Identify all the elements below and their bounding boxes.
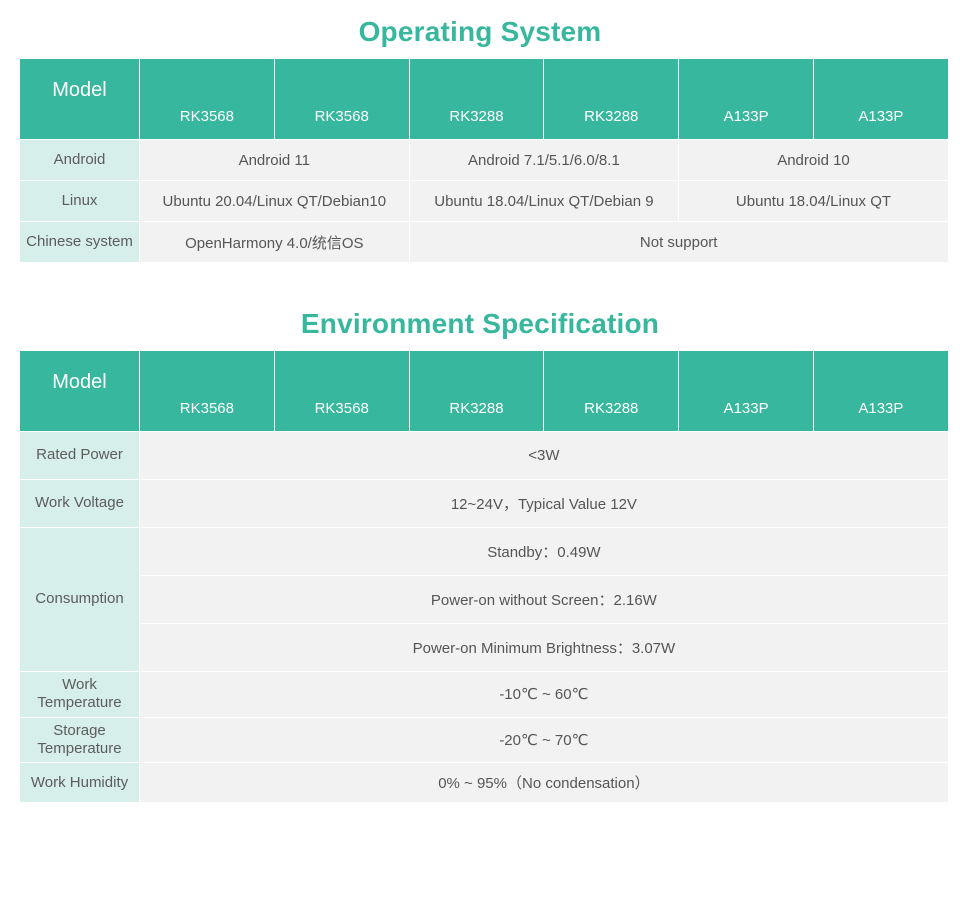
table-row: Chinese system OpenHarmony 4.0/统信OS Not … [20, 222, 948, 262]
header-model-label: Model [20, 59, 139, 139]
header-model-1: RK3568 [140, 351, 274, 431]
table-row: Rated Power <3W [20, 432, 948, 479]
page-title-operating-system: Operating System [0, 18, 960, 46]
header-model-2: RK3568 [275, 59, 409, 139]
row-label-work-temperature: Work Temperature [20, 672, 139, 717]
cell-consumption-standby: Standby：0.49W [140, 528, 948, 575]
table-header-operating-system: Model RK3568 RK3568 RK3288 RK3288 A133P … [20, 59, 948, 139]
table-row: Linux Ubuntu 20.04/Linux QT/Debian10 Ubu… [20, 181, 948, 221]
header-model-3: RK3288 [410, 351, 544, 431]
table-row: Android Android 11 Android 7.1/5.1/6.0/8… [20, 140, 948, 180]
header-model-label: Model [20, 351, 139, 431]
cell-consumption-power-on-without-screen: Power-on without Screen：2.16W [140, 576, 948, 623]
header-row: Model RK3568 RK3568 RK3288 RK3288 A133P … [20, 351, 948, 431]
header-row: Model RK3568 RK3568 RK3288 RK3288 A133P … [20, 59, 948, 139]
cell-android-rk3568: Android 11 [140, 140, 409, 180]
table-row: Power-on without Screen：2.16W [20, 576, 948, 623]
row-label-linux: Linux [20, 181, 139, 221]
cell-work-humidity-value: 0% ~ 95%（No condensation） [140, 763, 948, 802]
cell-rated-power-value: <3W [140, 432, 948, 479]
table-body-operating-system: Android Android 11 Android 7.1/5.1/6.0/8… [20, 140, 948, 262]
cell-android-rk3288: Android 7.1/5.1/6.0/8.1 [410, 140, 679, 180]
environment-specification-table: Model RK3568 RK3568 RK3288 RK3288 A133P … [19, 350, 949, 803]
header-model-5: A133P [679, 351, 813, 431]
header-model-6: A133P [814, 351, 948, 431]
row-label-consumption: Consumption [20, 528, 139, 671]
header-model-3: RK3288 [410, 59, 544, 139]
cell-android-a133p: Android 10 [679, 140, 948, 180]
row-label-work-humidity: Work Humidity [20, 763, 139, 802]
cell-storage-temperature-value: -20℃ ~ 70℃ [140, 718, 948, 763]
table-row: Power-on Minimum Brightness：3.07W [20, 624, 948, 671]
cell-linux-rk3288: Ubuntu 18.04/Linux QT/Debian 9 [410, 181, 679, 221]
row-label-storage-temperature: Storage Temperature [20, 718, 139, 763]
table-row: Consumption Standby：0.49W [20, 528, 948, 575]
cell-linux-a133p: Ubuntu 18.04/Linux QT [679, 181, 948, 221]
cell-chinese-system-rk3568: OpenHarmony 4.0/统信OS [140, 222, 409, 262]
cell-chinese-system-not-support: Not support [410, 222, 948, 262]
cell-consumption-power-on-minimum-brightness: Power-on Minimum Brightness：3.07W [140, 624, 948, 671]
header-model-6: A133P [814, 59, 948, 139]
operating-system-table: Model RK3568 RK3568 RK3288 RK3288 A133P … [19, 58, 949, 263]
header-model-1: RK3568 [140, 59, 274, 139]
header-model-2: RK3568 [275, 351, 409, 431]
table-row: Work Temperature -10℃ ~ 60℃ [20, 672, 948, 717]
table-row: Storage Temperature -20℃ ~ 70℃ [20, 718, 948, 763]
header-model-5: A133P [679, 59, 813, 139]
row-label-chinese-system: Chinese system [20, 222, 139, 262]
table-body-environment: Rated Power <3W Work Voltage 12~24V，Typi… [20, 432, 948, 802]
header-model-4: RK3288 [544, 351, 678, 431]
row-label-rated-power: Rated Power [20, 432, 139, 479]
cell-work-temperature-value: -10℃ ~ 60℃ [140, 672, 948, 717]
table-row: Work Voltage 12~24V，Typical Value 12V [20, 480, 948, 527]
row-label-android: Android [20, 140, 139, 180]
spec-sheet-page: Operating System Model RK3568 RK3568 RK3… [0, 0, 960, 900]
table-row: Work Humidity 0% ~ 95%（No condensation） [20, 763, 948, 802]
header-model-4: RK3288 [544, 59, 678, 139]
page-title-environment-specification: Environment Specification [0, 310, 960, 338]
row-label-work-voltage: Work Voltage [20, 480, 139, 527]
cell-work-voltage-value: 12~24V，Typical Value 12V [140, 480, 948, 527]
cell-linux-rk3568: Ubuntu 20.04/Linux QT/Debian10 [140, 181, 409, 221]
table-header-environment: Model RK3568 RK3568 RK3288 RK3288 A133P … [20, 351, 948, 431]
